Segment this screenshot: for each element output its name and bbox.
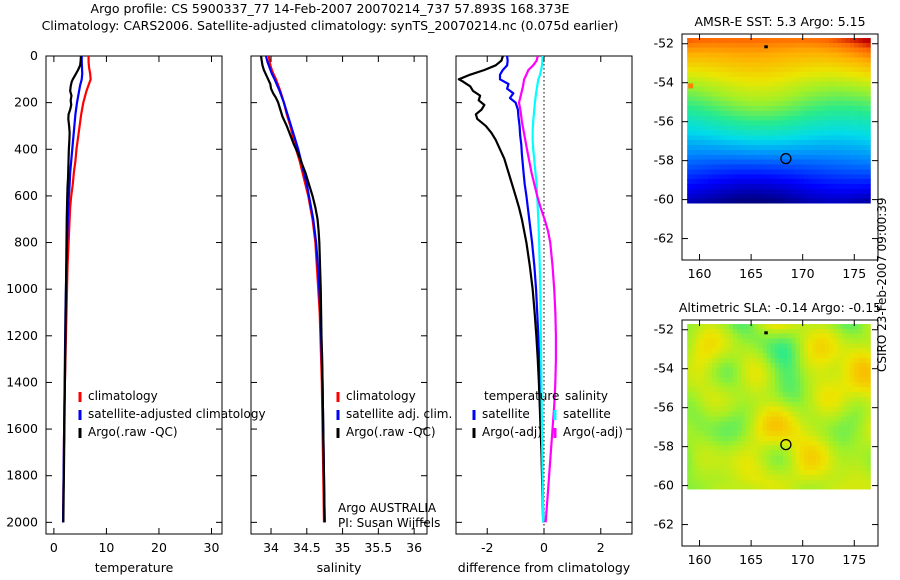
map-x-tick-label: 175 [842,266,866,281]
attribution-line2: PI: Susan Wijffels [338,516,440,530]
attribution-line1: Argo AUSTRALIA [338,501,437,515]
legend-label: satellite [563,407,611,421]
map-x-tick-label: 165 [739,266,763,281]
map-x-tick-label: 165 [739,552,763,567]
x-tick-label: -2 [481,540,493,555]
y-tick-label: 800 [14,235,38,250]
legend-label: climatology [88,389,158,403]
map-y-tick-label: -62 [654,231,674,246]
csiro-credit-text: CSIRO 23-Feb-2007 09:00:39 [875,197,889,372]
x-axis-title: salinity [317,560,362,575]
attribution: Argo AUSTRALIAPI: Susan Wijffels [338,501,440,530]
map-y-tick-label: -60 [654,192,674,207]
legend-label: climatology [346,389,416,403]
plot-frame [46,56,222,534]
x-tick-label: 0 [50,540,58,555]
legend-group-heading: temperature [484,389,559,403]
map-y-tick-label: -52 [654,36,674,51]
y-tick-label: 600 [14,188,38,203]
map-x-tick-label: 170 [791,266,815,281]
y-tick-label: 0 [30,48,38,63]
plot-frame [456,56,632,534]
map-title: AMSR-E SST: 5.3 Argo: 5.15 [694,14,865,29]
y-tick-label: 1000 [6,281,38,296]
temperature-profile: 0102030020040060080010001200140016001800… [6,48,222,575]
legend-label: satellite-adjusted climatology [88,407,266,421]
map-y-tick-label: -54 [654,75,674,90]
map-y-tick-label: -52 [654,322,674,337]
map-x-tick-label: 160 [688,266,712,281]
y-tick-label: 1200 [6,328,38,343]
y-tick-label: 2000 [6,514,38,529]
legend-label: Argo(.raw -QC) [88,425,178,439]
legend-label: Argo(-adj) [482,425,542,439]
y-tick-label: 200 [14,95,38,110]
y-tick-label: 1400 [6,374,38,389]
map-y-tick-label: -54 [654,361,674,376]
land-pixel [764,45,768,48]
map-y-tick-label: -62 [654,517,674,532]
altimetric-sla-map: Altimetric SLA: -0.14 Argo: -0.151601651… [654,300,882,567]
x-tick-label: 0 [540,540,548,555]
map-y-tick-label: -58 [654,153,674,168]
x-tick-label: 2 [597,540,605,555]
map-y-tick-label: -56 [654,114,674,129]
x-tick-label: 20 [151,540,167,555]
y-tick-label: 1800 [6,468,38,483]
map-x-tick-label: 160 [688,552,712,567]
map-x-tick-label: 170 [791,552,815,567]
legend-group-heading: salinity [565,389,608,403]
salinity-profile: 3434.53535.536salinity [251,56,427,575]
map-title: Altimetric SLA: -0.14 Argo: -0.15 [679,300,881,315]
map-raster [687,324,871,490]
x-tick-label: 35 [335,540,351,555]
legend-label: Argo(-adj) [563,425,623,439]
land-pixel [688,83,693,88]
map-y-tick-label: -58 [654,439,674,454]
x-tick-label: 36 [406,540,422,555]
legend-label: Argo(.raw -QC) [346,425,436,439]
y-tick-label: 400 [14,141,38,156]
map-y-tick-label: -60 [654,478,674,493]
csiro-credit: CSIRO 23-Feb-2007 09:00:39 [862,372,878,572]
y-tick-label: 1600 [6,421,38,436]
legend-salinity: climatologysatellite adj. clim.Argo(.raw… [338,389,452,439]
map-raster [687,38,871,204]
map-y-tick-label: -56 [654,400,674,415]
legend-label: satellite adj. clim. [346,407,452,421]
x-tick-label: 10 [98,540,114,555]
x-tick-label: 35.5 [364,540,392,555]
x-tick-label: 30 [204,540,220,555]
legend-label: satellite [482,407,530,421]
x-tick-label: 34.5 [293,540,321,555]
x-tick-label: 34 [263,540,279,555]
profile-panels: 0102030020040060080010001200140016001800… [0,0,660,580]
difference-from-climatology: -202difference from climatology [456,56,632,575]
land-pixel [764,331,768,334]
x-axis-title: difference from climatology [458,560,631,575]
amsre-sst-map: AMSR-E SST: 5.3 Argo: 5.15160165170175-5… [654,14,878,281]
x-axis-title: temperature [95,560,174,575]
plot-frame [251,56,427,534]
